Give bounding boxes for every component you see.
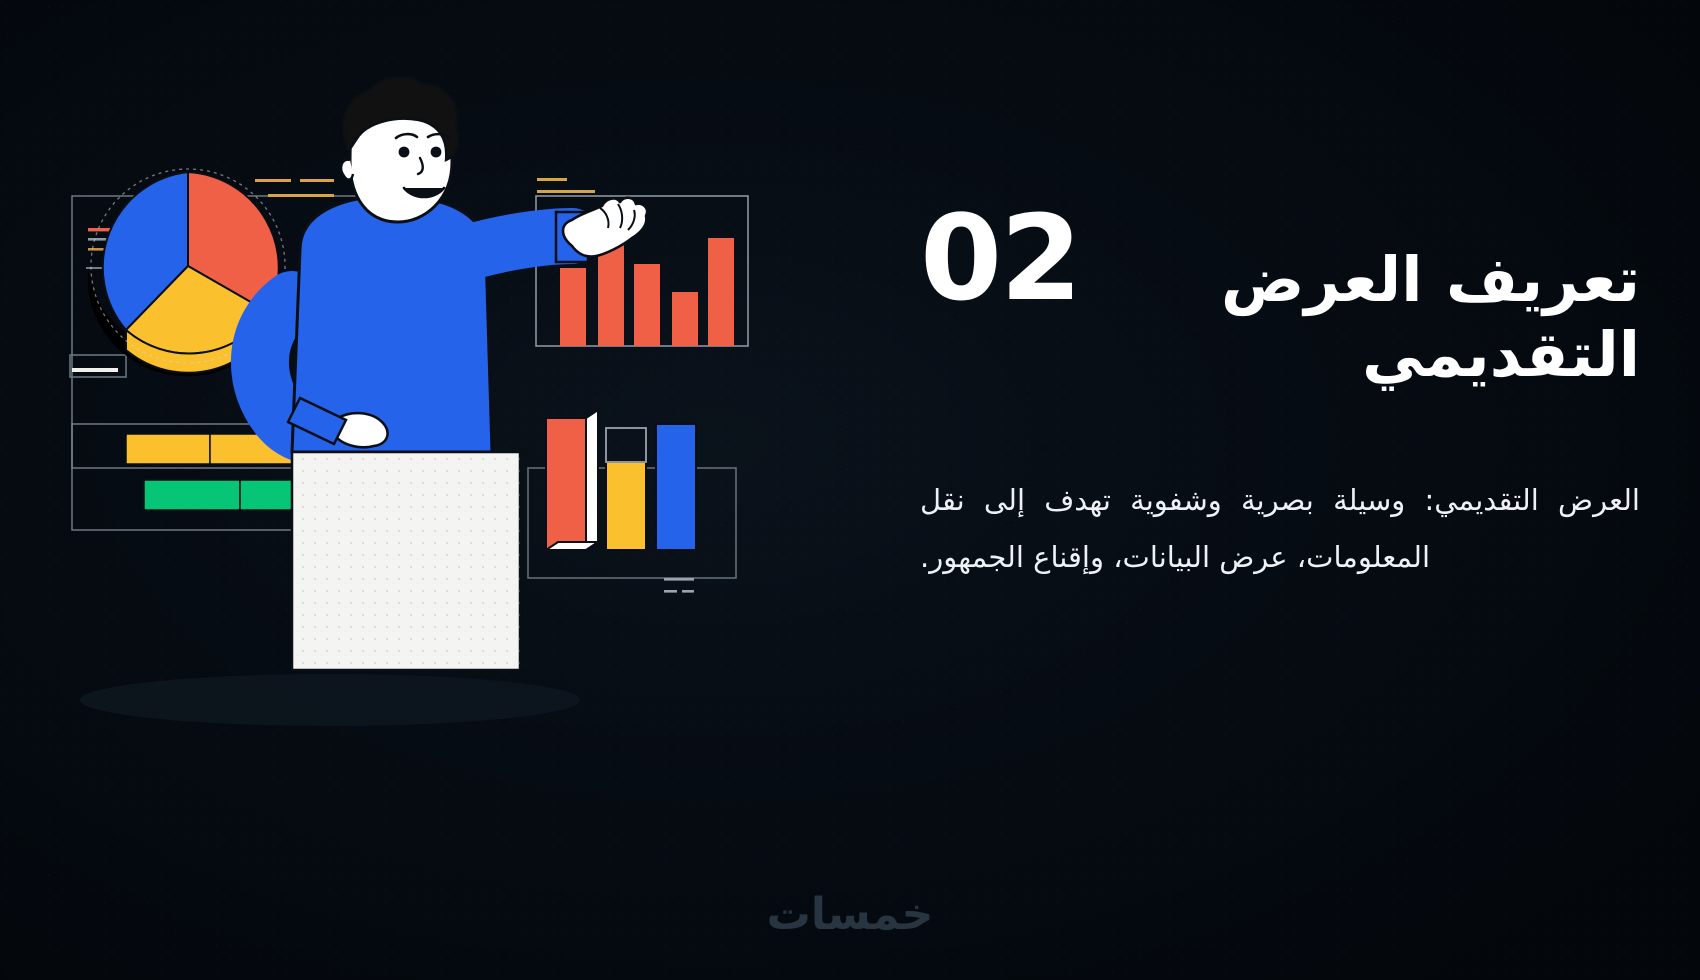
page-title: تعريف العرض التقديمي — [1106, 242, 1640, 393]
section-number: 02 — [920, 204, 1080, 313]
text-column: 02 تعريف العرض التقديمي العرض التقديمي: … — [920, 200, 1640, 614]
presenter-illustration — [0, 0, 800, 800]
slide-canvas: 02 تعريف العرض التقديمي العرض التقديمي: … — [0, 0, 1700, 980]
bar-chart-bottom — [528, 410, 736, 593]
body-paragraph: العرض التقديمي: وسيلة بصرية وشفوية تهدف … — [920, 472, 1640, 585]
presenter-character — [260, 77, 647, 452]
podium-texture — [292, 452, 520, 670]
watermark-khamsat: خمسات — [767, 889, 934, 940]
figure-shadow — [80, 674, 580, 726]
heading-row: 02 تعريف العرض التقديمي — [920, 200, 1640, 434]
